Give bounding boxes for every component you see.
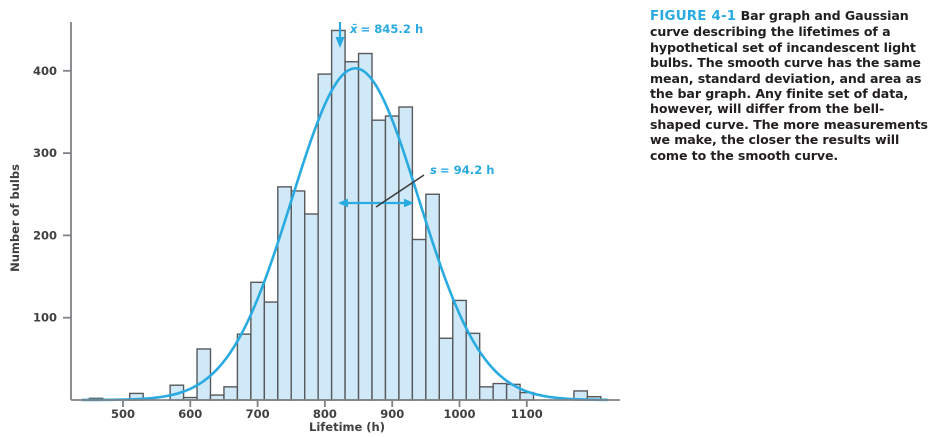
histogram-bar [345, 62, 358, 400]
histogram-bars [89, 30, 600, 400]
x-axis-tick-label: 500 [111, 407, 135, 421]
y-axis-tick-label: 100 [33, 311, 57, 325]
histogram-bar [372, 120, 385, 400]
y-axis-title: Number of bulbs [8, 164, 22, 272]
caption-paragraph: FIGURE 4-1 Bar graph and Gaussian curve … [650, 8, 932, 163]
figure-caption: FIGURE 4-1 Bar graph and Gaussian curve … [650, 8, 932, 163]
x-axis-tick-labels: 50060070080090010001100 [111, 407, 543, 421]
histogram-bar [399, 107, 412, 400]
figure-label: FIGURE 4-1 [650, 9, 736, 24]
stdev-value-text: = 94.2 h [440, 163, 495, 177]
histogram-svg: 100200300400 50060070080090010001100 Lif… [0, 0, 640, 437]
y-axis-tick-label: 200 [33, 228, 57, 242]
histogram-bar [359, 54, 372, 400]
histogram-bar [412, 240, 425, 400]
mean-annotation: x̄= 845.2 h [336, 22, 424, 48]
y-axis-tick-label: 300 [33, 146, 57, 160]
x-axis-tick-label: 800 [313, 407, 337, 421]
y-axis-ticks [63, 71, 71, 318]
x-axis-ticks [123, 400, 527, 407]
histogram-bar [385, 116, 398, 400]
histogram-bar [237, 334, 250, 400]
caption-body: Bar graph and Gaussian curve describing … [650, 8, 928, 163]
stdev-symbol: s [430, 163, 437, 177]
x-axis-tick-label: 1000 [443, 407, 475, 421]
x-axis-tick-label: 900 [380, 407, 404, 421]
x-axis-tick-label: 600 [178, 407, 202, 421]
stdev-label: s= 94.2 h [430, 163, 495, 177]
histogram-bar [291, 191, 304, 400]
histogram-bar [439, 338, 452, 400]
histogram-bar [197, 349, 210, 400]
mean-symbol: x̄ [349, 22, 358, 36]
y-axis-tick-label: 400 [33, 64, 57, 78]
x-axis-tick-label: 700 [246, 407, 270, 421]
x-axis-title: Lifetime (h) [309, 420, 385, 434]
histogram-bar [224, 387, 237, 400]
x-axis-tick-label: 1100 [511, 407, 543, 421]
histogram-bar [493, 384, 506, 400]
y-axis-tick-labels: 100200300400 [33, 64, 57, 325]
histogram-bar [480, 387, 493, 400]
mean-value-text: = 845.2 h [360, 22, 423, 36]
chart-area: 100200300400 50060070080090010001100 Lif… [0, 0, 640, 437]
histogram-bar [305, 214, 318, 400]
histogram-bar [466, 333, 479, 400]
histogram-bar [264, 302, 277, 400]
histogram-bar [318, 74, 331, 400]
figure-container: 100200300400 50060070080090010001100 Lif… [0, 0, 940, 437]
mean-label: x̄= 845.2 h [349, 22, 423, 36]
